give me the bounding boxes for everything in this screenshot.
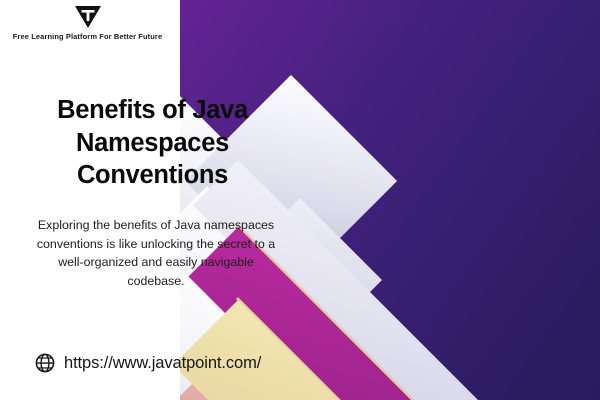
brand-tagline: Free Learning Platform For Better Future (0, 32, 175, 41)
brand-lockup: Free Learning Platform For Better Future (0, 4, 175, 41)
page-title-line-2: Namespaces (20, 127, 285, 160)
website-url-text[interactable]: https://www.javatpoint.com/ (64, 354, 261, 373)
body-text: Exploring the benefits of Java namespace… (34, 216, 278, 290)
globe-icon (34, 352, 56, 374)
decorative-artwork (180, 0, 600, 400)
poster-canvas: Free Learning Platform For Better Future… (0, 0, 600, 400)
page-title-line-3: Conventions (20, 159, 285, 192)
page-title-line-1: Benefits of Java (20, 94, 285, 127)
page-title: Benefits of Java Namespaces Conventions (20, 94, 285, 192)
javatpoint-triangle-t-logo-icon (73, 4, 103, 30)
website-url-row[interactable]: https://www.javatpoint.com/ (34, 352, 261, 374)
